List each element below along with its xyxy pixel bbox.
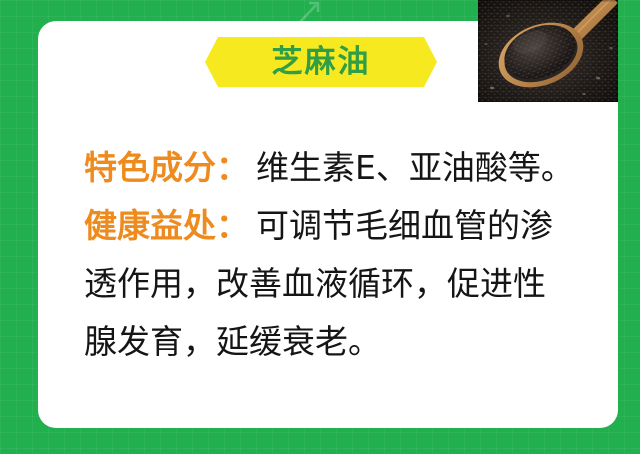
value-health-benefits: 可调节毛细血管的渗 xyxy=(256,206,553,245)
infographic-poster: 特色成分：维生素E、亚油酸等。 健康益处：可调节毛细血管的渗 透作用，改善血液循… xyxy=(0,0,640,454)
label-featured-ingredients: 特色成分： xyxy=(84,148,249,187)
label-health-benefits: 健康益处： xyxy=(84,206,249,245)
sesame-seed-photo xyxy=(478,0,618,102)
body-text-block: 特色成分：维生素E、亚油酸等。 健康益处：可调节毛细血管的渗 透作用，改善血液循… xyxy=(84,139,640,371)
page-title: 芝麻油 xyxy=(272,47,371,78)
benefits-continuation-line-2: 腺发育，延缓衰老。 xyxy=(84,313,640,371)
spec-row-ingredients: 特色成分：维生素E、亚油酸等。 xyxy=(84,139,640,197)
spec-row-benefits: 健康益处：可调节毛细血管的渗 xyxy=(84,197,640,255)
value-featured-ingredients: 维生素E、亚油酸等。 xyxy=(256,148,574,187)
benefits-continuation-line-1: 透作用，改善血液循环，促进性 xyxy=(84,255,640,313)
title-banner: 芝麻油 xyxy=(205,37,437,87)
